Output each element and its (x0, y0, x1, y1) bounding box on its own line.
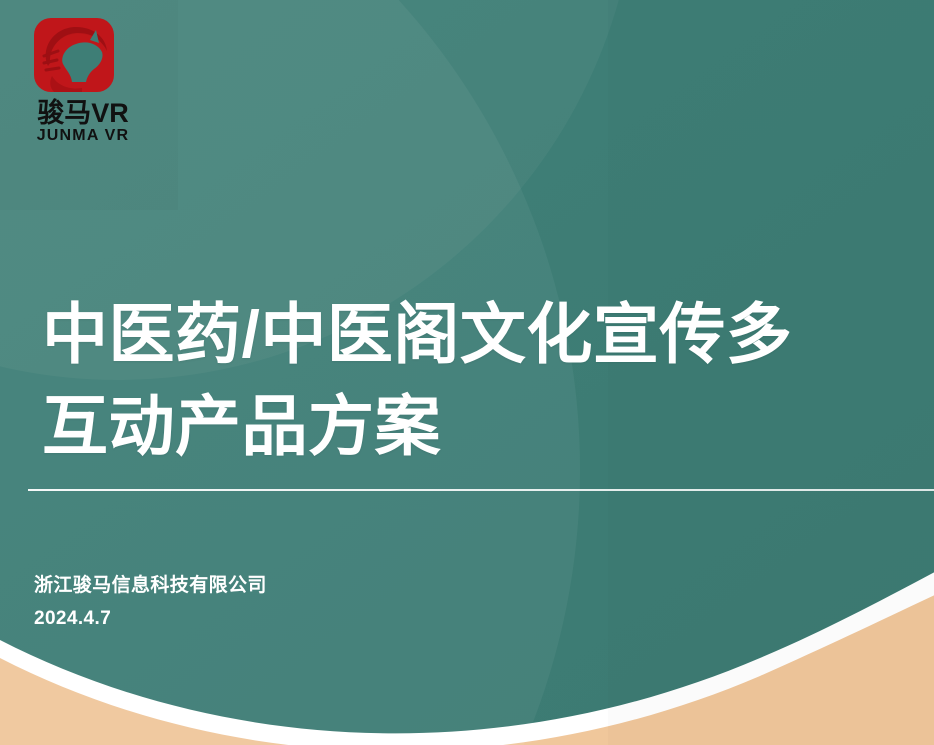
logo-english-text: JUNMA VR (18, 126, 148, 146)
logo-chinese-text: 骏马VR (18, 98, 148, 128)
title-slide: 骏马VR JUNMA VR 中医药/中医阁文化宣传多 互动产品方案 浙江骏马信息… (0, 0, 934, 745)
title-line-2: 互动产品方案 (42, 380, 934, 472)
slide-footer: 浙江骏马信息科技有限公司 2024.4.7 (34, 569, 534, 635)
presentation-date: 2024.4.7 (34, 602, 534, 635)
title-divider-line (28, 489, 934, 491)
junma-horse-head-logo-icon (32, 18, 116, 96)
company-name: 浙江骏马信息科技有限公司 (34, 569, 534, 602)
slide-title: 中医药/中医阁文化宣传多 互动产品方案 (42, 288, 934, 472)
title-line-1: 中医药/中医阁文化宣传多 (42, 288, 934, 380)
brand-logo: 骏马VR JUNMA VR (18, 12, 148, 144)
